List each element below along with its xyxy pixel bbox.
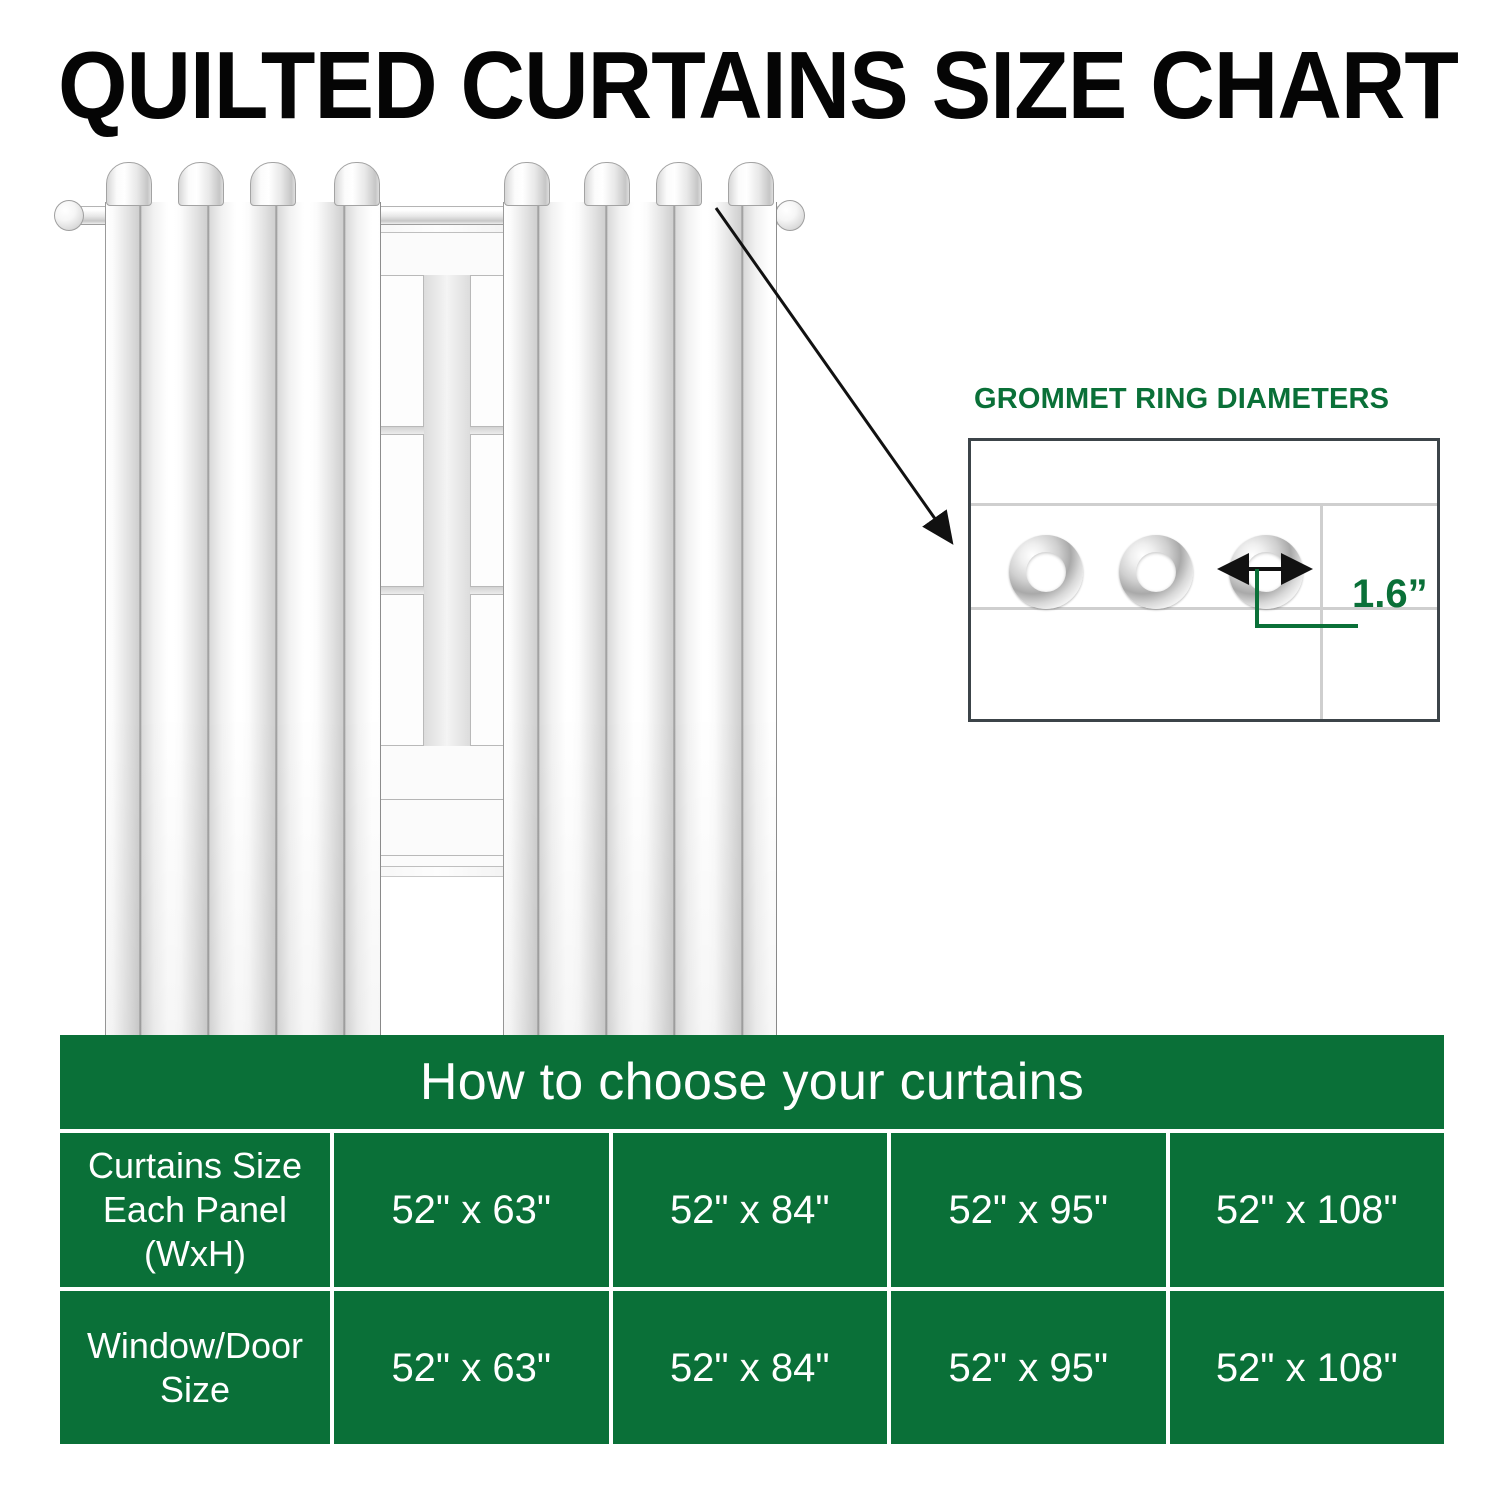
window-sill-line: [373, 799, 521, 800]
curtain-illustration: [0, 150, 900, 1020]
window-mullion-vertical: [424, 275, 470, 427]
grommet-detail-heading: GROMMET RING DIAMETERS: [974, 382, 1389, 416]
size-table: How to choose your curtains Curtains Siz…: [60, 1035, 1444, 1444]
window-mullion-vertical: [424, 434, 470, 586]
curtain-fabric: [105, 202, 381, 1038]
curtain-grommet-tab: [728, 162, 774, 206]
table-cell: 52" x 84": [613, 1291, 888, 1444]
window-pane-grid: [373, 275, 521, 746]
size-table-header: How to choose your curtains: [60, 1035, 1444, 1129]
grommet-ring-icon: [1229, 535, 1303, 609]
window-sill-line: [373, 855, 521, 856]
window-mullion-vertical: [424, 587, 470, 594]
table-cell: 52" x 63": [334, 1291, 609, 1444]
table-cell: 52" x 95": [891, 1133, 1166, 1287]
window-mullion-vertical: [424, 427, 470, 434]
curtain-grommet-tab: [178, 162, 224, 206]
grommet-ring-icon: [1119, 535, 1193, 609]
table-cell: 52" x 108": [1170, 1291, 1445, 1444]
curtain-header-line-top: [971, 503, 1437, 506]
curtain-grommet-tab: [584, 162, 630, 206]
curtain-rod-finial-right: [775, 200, 805, 231]
window-mullion-vertical: [424, 594, 470, 746]
table-cell: 52" x 84": [613, 1133, 888, 1287]
table-row: Curtains Size Each Panel (WxH) 52" x 63"…: [60, 1133, 1444, 1287]
curtain-panel-edge-line: [1320, 503, 1323, 719]
curtain-grommet-tab: [656, 162, 702, 206]
page-title: QUILTED CURTAINS SIZE CHART: [58, 38, 1360, 134]
table-cell: 52" x 63": [334, 1133, 609, 1287]
curtain-panel-right: [503, 202, 777, 1038]
grommet-dimension-label: 1.6”: [1352, 572, 1428, 616]
table-cell: 52" x 108": [1170, 1133, 1445, 1287]
curtain-fabric: [503, 202, 777, 1038]
curtain-panel-left: [105, 202, 381, 1038]
table-row: Window/Door Size 52" x 63" 52" x 84" 52"…: [60, 1291, 1444, 1444]
row-label-curtains-size: Curtains Size Each Panel (WxH): [60, 1133, 330, 1287]
row-label-window-door-size: Window/Door Size: [60, 1291, 330, 1444]
grommet-ring-icon: [1009, 535, 1083, 609]
size-chart-page: QUILTED CURTAINS SIZE CHART: [0, 0, 1500, 1500]
curtain-grommet-tab: [250, 162, 296, 206]
curtain-grommet-tab: [106, 162, 152, 206]
curtain-grommet-tab: [504, 162, 550, 206]
curtain-grommet-tab: [334, 162, 380, 206]
table-cell: 52" x 95": [891, 1291, 1166, 1444]
curtain-rod-finial-left: [54, 200, 84, 231]
